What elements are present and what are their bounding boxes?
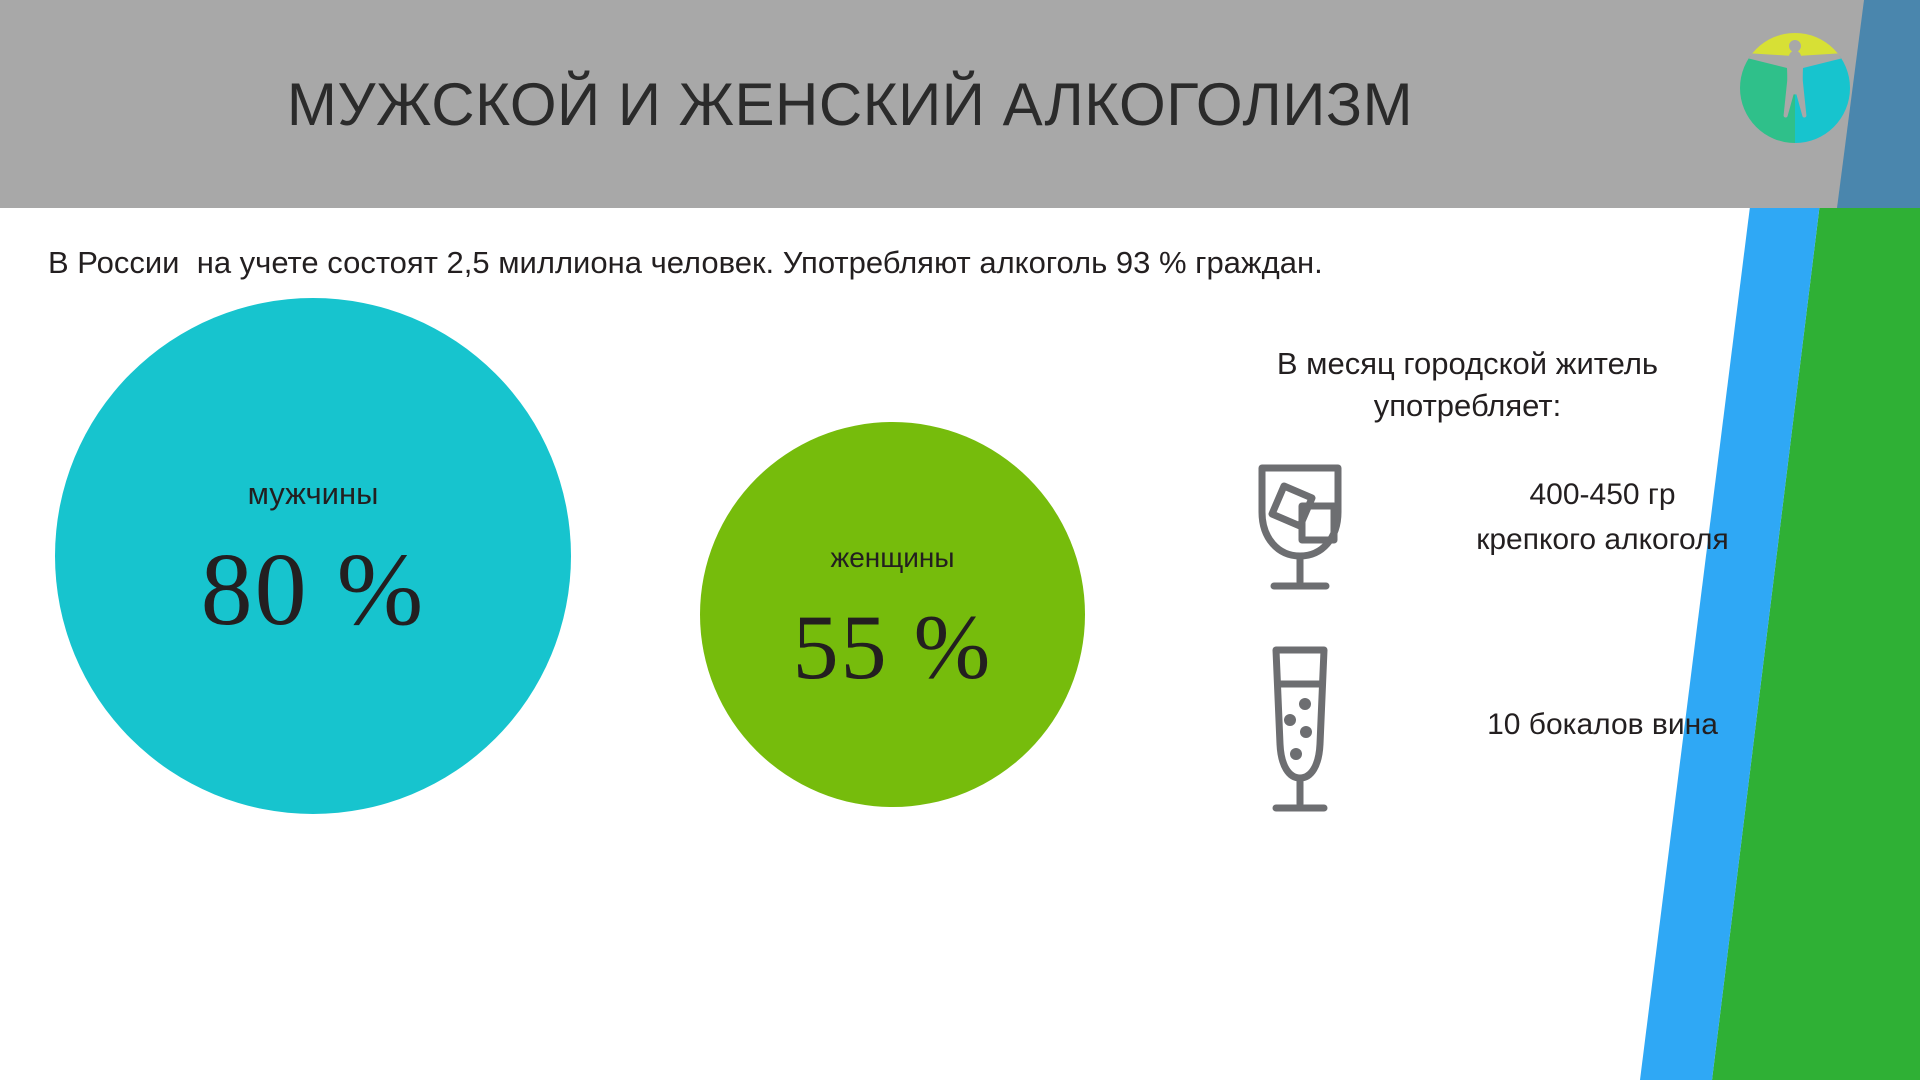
bubble-3 (1300, 726, 1312, 738)
stat-circle-women: женщины 55 % (700, 422, 1085, 807)
bubble-2 (1284, 714, 1296, 726)
page-title: МУЖСКОЙ И ЖЕНСКИЙ АЛКОГОЛИЗМ (0, 70, 1700, 139)
champagne-flute-icon (1240, 640, 1360, 820)
consumption-heading: В месяц городской житель употребляет: (1195, 343, 1740, 427)
consumption-heading-line2: употребляет: (1374, 388, 1561, 423)
consumption-item-spirits: 400-450 гр крепкого алкоголя (1240, 450, 1800, 610)
spirits-text: 400-450 гр крепкого алкоголя (1405, 472, 1800, 562)
wine-amount: 10 бокалов вина (1487, 708, 1718, 741)
bubble-4 (1290, 748, 1302, 760)
stat-value-men: 80 % (55, 530, 571, 649)
stat-value-women: 55 % (700, 594, 1085, 700)
stat-label-women: женщины (700, 542, 1085, 574)
consumption-item-wine: 10 бокалов вина (1240, 640, 1800, 830)
stat-circle-men: мужчины 80 % (55, 298, 571, 814)
intro-text: В России на учете состоят 2,5 миллиона ч… (48, 245, 1323, 281)
wine-text: 10 бокалов вина (1405, 708, 1800, 742)
spirits-amount: 400-450 гр (1529, 478, 1675, 511)
consumption-heading-line1: В месяц городской житель (1277, 346, 1658, 381)
slide-canvas: МУЖСКОЙ И ЖЕНСКИЙ АЛКОГОЛИЗМ В России на… (0, 0, 1920, 1080)
stat-label-men: мужчины (55, 476, 571, 512)
bubble-1 (1299, 698, 1311, 710)
human-figure-circle-logo (1735, 28, 1855, 148)
tumbler-glass-with-ice-icon (1240, 450, 1360, 600)
spirits-kind: крепкого алкоголя (1476, 523, 1729, 556)
